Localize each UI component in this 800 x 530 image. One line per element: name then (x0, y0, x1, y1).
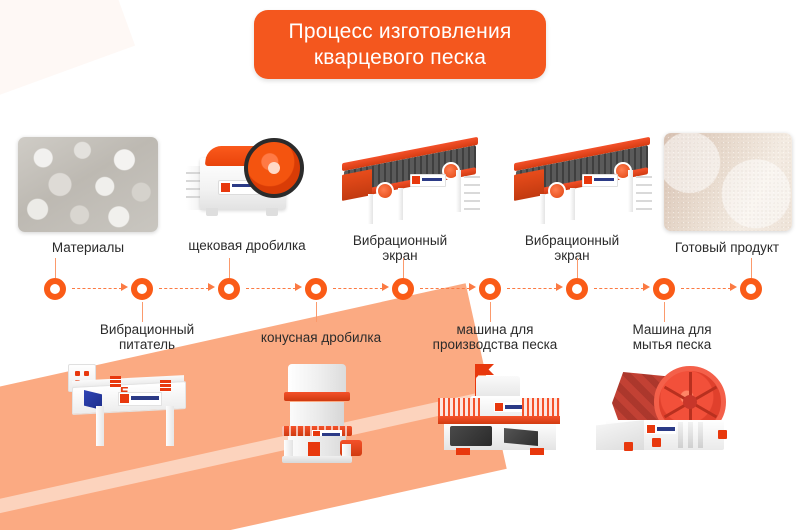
title-banner: Процесс изготовления кварцевого песка (254, 10, 546, 79)
flow-arrow-1 (72, 288, 122, 289)
flow-node-2[interactable] (131, 278, 153, 300)
image-materials (18, 137, 158, 232)
flow-arrowhead-7 (643, 283, 650, 291)
flow-arrowhead-1 (121, 283, 128, 291)
flow-arrowhead-6 (556, 283, 563, 291)
leader-line-bottom-3 (490, 302, 491, 322)
flow-node-7[interactable] (566, 278, 588, 300)
flow-arrow-5 (420, 288, 470, 289)
image-finished-product (664, 133, 792, 231)
icon-jaw-crusher (182, 130, 312, 230)
icon-vibrating-screen-2 (510, 142, 660, 234)
flow-arrowhead-8 (730, 283, 737, 291)
label-materials: Материалы (8, 240, 168, 255)
icon-sand-making-machine (430, 358, 570, 463)
flow-arrow-3 (246, 288, 296, 289)
flow-arrow-2 (159, 288, 209, 289)
leader-line-top-4 (577, 258, 578, 278)
icon-vibrating-screen-1 (338, 142, 488, 234)
decorative-wedge-top-left (0, 0, 135, 107)
flow-node-5[interactable] (392, 278, 414, 300)
label-vibrating-screen-2: Вибрационный экран (502, 233, 642, 263)
flow-node-3[interactable] (218, 278, 240, 300)
flow-connector-rail (0, 278, 800, 310)
flow-node-4[interactable] (305, 278, 327, 300)
flow-arrow-7 (594, 288, 644, 289)
flow-node-9[interactable] (740, 278, 762, 300)
leader-line-bottom-2 (316, 302, 317, 322)
leader-line-top-2 (229, 258, 230, 278)
label-sand-making-machine: машина для производства песка (410, 322, 580, 352)
label-vibrating-screen-1: Вибрационный экран (330, 233, 470, 263)
flow-node-6[interactable] (479, 278, 501, 300)
flow-arrowhead-5 (469, 283, 476, 291)
label-jaw-crusher: щековая дробилка (157, 238, 337, 253)
flow-arrowhead-3 (295, 283, 302, 291)
icon-cone-crusher (268, 356, 368, 466)
flow-arrow-8 (681, 288, 731, 289)
leader-line-top-3 (403, 258, 404, 278)
icon-sand-washing-machine (600, 358, 750, 463)
flow-node-8[interactable] (653, 278, 675, 300)
leader-line-bottom-1 (142, 302, 143, 322)
leader-line-bottom-4 (664, 302, 665, 322)
flow-arrow-6 (507, 288, 557, 289)
leader-line-top-5 (751, 258, 752, 278)
label-vibrating-feeder: Вибрационный питатель (72, 322, 222, 352)
flow-arrowhead-2 (208, 283, 215, 291)
process-flow-diagram: Процесс изготовления кварцевого песка Ма… (0, 0, 800, 530)
page-title: Процесс изготовления кварцевого песка (289, 19, 512, 71)
label-sand-washing-machine: Машина для мытья песка (592, 322, 752, 352)
flow-node-1[interactable] (44, 278, 66, 300)
label-finished-product: Готовый продукт (652, 240, 800, 255)
flow-arrowhead-4 (382, 283, 389, 291)
icon-vibrating-feeder: E (62, 362, 222, 462)
label-cone-crusher: конусная дробилка (236, 330, 406, 345)
flow-arrow-4 (333, 288, 383, 289)
leader-line-top-1 (55, 258, 56, 278)
